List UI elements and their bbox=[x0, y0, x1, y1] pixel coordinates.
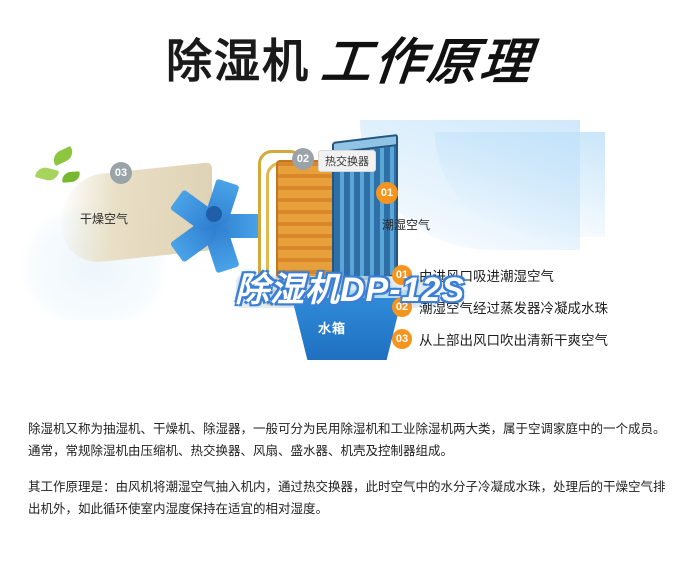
step-number: 02 bbox=[392, 297, 412, 317]
label-heat-exchanger: 热交换器 bbox=[318, 150, 376, 172]
step-number: 03 bbox=[392, 329, 412, 349]
label-dry-air: 干燥空气 bbox=[80, 210, 128, 227]
label-humid-air: 潮湿空气 bbox=[382, 216, 430, 233]
badge-02-top: 02 bbox=[292, 148, 314, 170]
diagram-illustration: 水箱 03 干燥空气 02 热交换器 01 潮湿空气 01 由进风口吸进潮湿空气… bbox=[0, 110, 700, 400]
title-sub-text: 工作原理 bbox=[318, 22, 538, 94]
poster-title: 除湿机工作原理 bbox=[0, 22, 700, 94]
poster-root: 除湿机工作原理 水箱 03 干燥空气 02 bbox=[0, 0, 700, 566]
list-item: 02 潮湿空气经过蒸发器冷凝成水珠 bbox=[392, 297, 692, 317]
badge-03-left: 03 bbox=[110, 162, 132, 184]
steps-list: 01 由进风口吸进潮湿空气 02 潮湿空气经过蒸发器冷凝成水珠 03 从上部出风… bbox=[392, 265, 692, 361]
step-text: 从上部出风口吹出清新干爽空气 bbox=[419, 329, 608, 349]
leaf-icon bbox=[50, 146, 75, 166]
condenser-coil bbox=[276, 160, 340, 284]
step-number: 01 bbox=[392, 265, 412, 285]
fan-icon bbox=[168, 168, 260, 260]
description-paragraph-1: 除湿机又称为抽湿机、干燥机、除湿器，一般可分为民用除湿机和工业除湿机两大类，属于… bbox=[28, 418, 674, 462]
step-text: 由进风口吸进潮湿空气 bbox=[419, 265, 554, 285]
badge-01-right: 01 bbox=[376, 182, 398, 204]
description-paragraph-2: 其工作原理是：由风机将潮湿空气抽入机内，通过热交换器，此时空气中的水分子冷凝成水… bbox=[28, 476, 674, 520]
description-block: 除湿机又称为抽湿机、干燥机、除湿器，一般可分为民用除湿机和工业除湿机两大类，属于… bbox=[28, 418, 674, 520]
title-main-text: 除湿机 bbox=[166, 25, 310, 91]
leaf-icon bbox=[35, 165, 59, 182]
list-item: 01 由进风口吸进潮湿空气 bbox=[392, 265, 692, 285]
list-item: 03 从上部出风口吹出清新干爽空气 bbox=[392, 329, 692, 349]
water-tank bbox=[292, 298, 402, 360]
water-tank-label: 水箱 bbox=[318, 318, 346, 337]
leaf-icon bbox=[62, 171, 81, 183]
step-text: 潮湿空气经过蒸发器冷凝成水珠 bbox=[419, 297, 608, 317]
